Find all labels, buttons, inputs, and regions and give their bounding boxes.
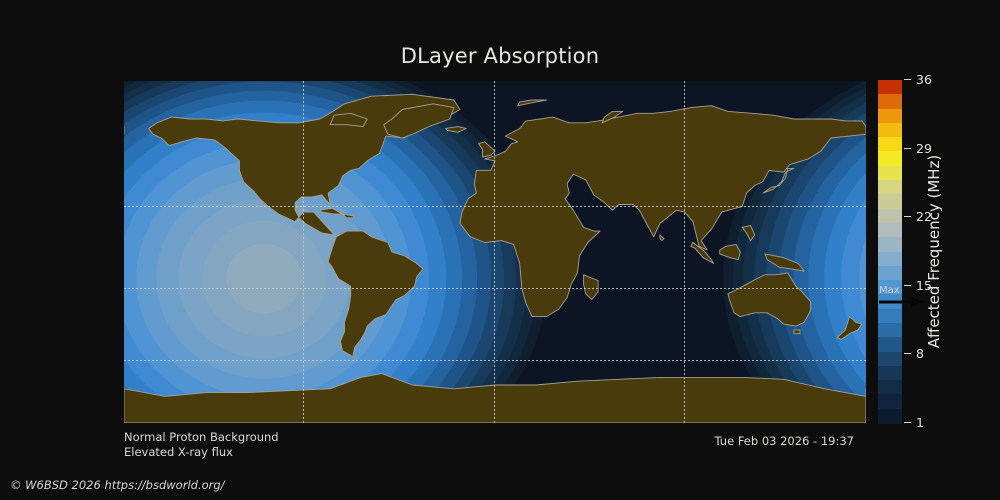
colorbar[interactable]: 3629221581 bbox=[878, 80, 902, 423]
colorbar-band bbox=[878, 309, 902, 324]
colorbar-band bbox=[878, 123, 902, 138]
timestamp-label: Tue Feb 03 2026 - 19:37 bbox=[0, 434, 854, 448]
tick-mark bbox=[904, 148, 911, 149]
colorbar-band bbox=[878, 209, 902, 224]
colorbar-gradient bbox=[878, 80, 902, 423]
colorbar-axis-label: Affected Frequency (MHz) bbox=[922, 80, 946, 423]
colorbar-band bbox=[878, 180, 902, 195]
colorbar-band bbox=[878, 409, 902, 424]
tick-mark bbox=[904, 353, 911, 354]
colorbar-band bbox=[878, 337, 902, 352]
colorbar-band bbox=[878, 266, 902, 281]
arrow-right-icon bbox=[879, 296, 927, 308]
colorbar-max-marker: Max bbox=[879, 285, 939, 309]
colorbar-band bbox=[878, 394, 902, 409]
dlayer-absorption-map-page: DLayer Absorption 3629221581 bbox=[0, 0, 1000, 500]
colorbar-band bbox=[878, 94, 902, 109]
colorbar-band bbox=[878, 366, 902, 381]
world-map[interactable] bbox=[124, 81, 866, 423]
colorbar-band bbox=[878, 237, 902, 252]
colorbar-band bbox=[878, 252, 902, 267]
landmass-outline bbox=[794, 330, 800, 334]
colorbar-band bbox=[878, 380, 902, 395]
colorbar-band bbox=[878, 352, 902, 367]
colorbar-band bbox=[878, 194, 902, 209]
colorbar-band bbox=[878, 109, 902, 124]
colorbar-band bbox=[878, 80, 902, 95]
colorbar-band bbox=[878, 166, 902, 181]
colorbar-band bbox=[878, 151, 902, 166]
tick-mark bbox=[904, 422, 911, 423]
colorbar-ticks: 3629221581 bbox=[902, 80, 992, 423]
tick-mark bbox=[904, 79, 911, 80]
max-marker-label: Max bbox=[879, 285, 900, 296]
colorbar-band bbox=[878, 137, 902, 152]
absorption-contour bbox=[226, 244, 302, 314]
page-title: DLayer Absorption bbox=[0, 44, 1000, 68]
colorbar-band bbox=[878, 323, 902, 338]
colorbar-band bbox=[878, 223, 902, 238]
tick-mark bbox=[904, 216, 911, 217]
copyright-label: © W6BSD 2026 https://bsdworld.org/ bbox=[10, 478, 225, 492]
map-canvas bbox=[124, 81, 866, 423]
